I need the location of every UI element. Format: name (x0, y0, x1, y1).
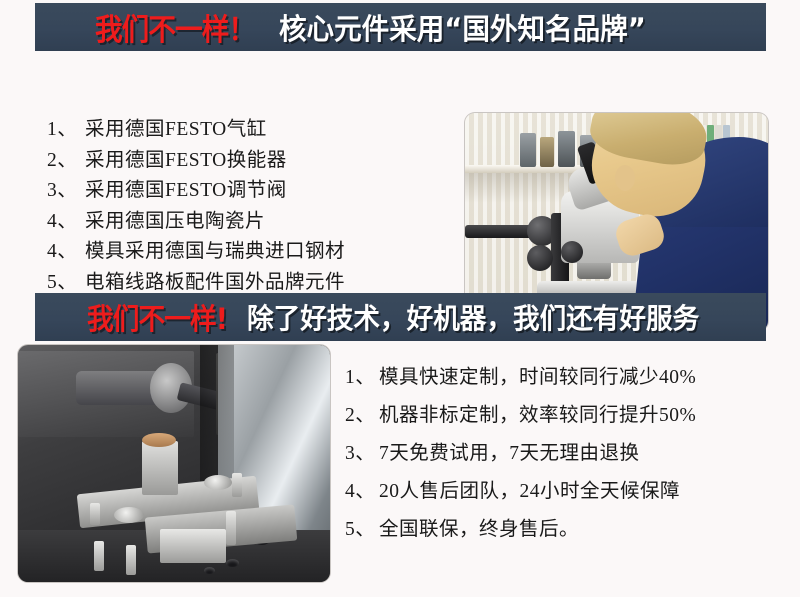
list-item-text: 模具采用德国与瑞典进口钢材 (85, 241, 345, 262)
list-item: 2、机器非标定制，效率较同行提升50% (345, 397, 696, 435)
list-item-text: 采用德国FESTO调节阀 (85, 180, 287, 201)
service-list: 1、模具快速定制，时间较同行减少40% 2、机器非标定制，效率较同行提升50% … (345, 359, 696, 549)
zoom-knob (561, 241, 583, 263)
dowel-pin (90, 503, 100, 525)
tool-bit (540, 137, 554, 167)
table-hole (204, 567, 215, 574)
list-item: 5、全国联保，终身售后。 (345, 511, 696, 549)
dowel-pin (232, 473, 242, 497)
list-item: 1、模具快速定制，时间较同行减少40% (345, 359, 696, 397)
clamp-block (160, 529, 226, 563)
list-item-number: 5、 (345, 511, 379, 549)
banner-highlight-text: 我们不一样! (87, 296, 227, 338)
list-item: 3、7天免费试用，7天无理由退换 (345, 435, 696, 473)
section-banner-service: 我们不一样! 除了好技术，好机器，我们还有好服务 (35, 293, 766, 341)
washer (204, 475, 232, 490)
list-item-number: 4、 (345, 473, 379, 511)
dowel-pin (226, 511, 236, 545)
list-item-text: 模具快速定制，时间较同行减少40% (379, 367, 696, 388)
list-item-number: 4、 (47, 207, 85, 238)
promo-page: 我们不一样！ 核心元件采用“国外知名品牌” 1、采用德国FESTO气缸 2、采用… (0, 0, 800, 597)
features-list: 1、采用德国FESTO气缸 2、采用德国FESTO换能器 3、采用德国FESTO… (47, 115, 345, 298)
list-item: 3、采用德国FESTO调节阀 (47, 176, 345, 207)
copper-disc (142, 433, 176, 447)
list-item: 4、采用德国压电陶瓷片 (47, 207, 345, 238)
list-item-number: 3、 (345, 435, 379, 473)
section-banner-features: 我们不一样！ 核心元件采用“国外知名品牌” (35, 3, 766, 51)
washer (114, 507, 144, 523)
banner-subtitle-text: 除了好技术，好机器，我们还有好服务 (247, 297, 699, 337)
machine-scene (18, 345, 330, 582)
banner-subtitle-text: 核心元件采用“国外知名品牌” (279, 6, 646, 48)
list-item-text: 采用德国压电陶瓷片 (85, 211, 265, 232)
list-item-text: 采用德国FESTO气缸 (85, 119, 267, 140)
list-item: 1、采用德国FESTO气缸 (47, 115, 345, 146)
list-item-text: 全国联保，终身售后。 (379, 519, 579, 540)
focus-knob (527, 245, 553, 271)
list-item-number: 4、 (47, 237, 85, 268)
welding-tool-head (142, 441, 178, 495)
banner-highlight-text: 我们不一样！ (95, 5, 255, 49)
list-item-number: 1、 (47, 115, 85, 146)
list-item: 4、20人售后团队，24小时全天候保障 (345, 473, 696, 511)
list-item-text: 电箱线路板配件国外品牌元件 (85, 272, 345, 293)
list-item-number: 3、 (47, 176, 85, 207)
list-item-text: 采用德国FESTO换能器 (85, 150, 287, 171)
tool-bit (520, 133, 536, 167)
technician-ear (615, 165, 635, 191)
features-section: 1、采用德国FESTO气缸 2、采用德国FESTO换能器 3、采用德国FESTO… (0, 55, 800, 285)
list-item-number: 2、 (345, 397, 379, 435)
list-item-number: 2、 (47, 146, 85, 177)
list-item-text: 机器非标定制，效率较同行提升50% (379, 405, 696, 426)
dowel-pin (94, 541, 104, 571)
list-item: 2、采用德国FESTO换能器 (47, 146, 345, 177)
dowel-pin (126, 545, 136, 575)
list-item-text: 7天免费试用，7天无理由退换 (379, 443, 640, 464)
list-item: 4、模具采用德国与瑞典进口钢材 (47, 237, 345, 268)
list-item-number: 1、 (345, 359, 379, 397)
list-item-text: 20人售后团队，24小时全天候保障 (379, 481, 680, 502)
table-hole (226, 559, 239, 567)
welding-machine-photo (18, 345, 330, 582)
service-section: 1、模具快速定制，时间较同行减少40% 2、机器非标定制，效率较同行提升50% … (0, 345, 800, 597)
tool-bit (558, 131, 575, 167)
